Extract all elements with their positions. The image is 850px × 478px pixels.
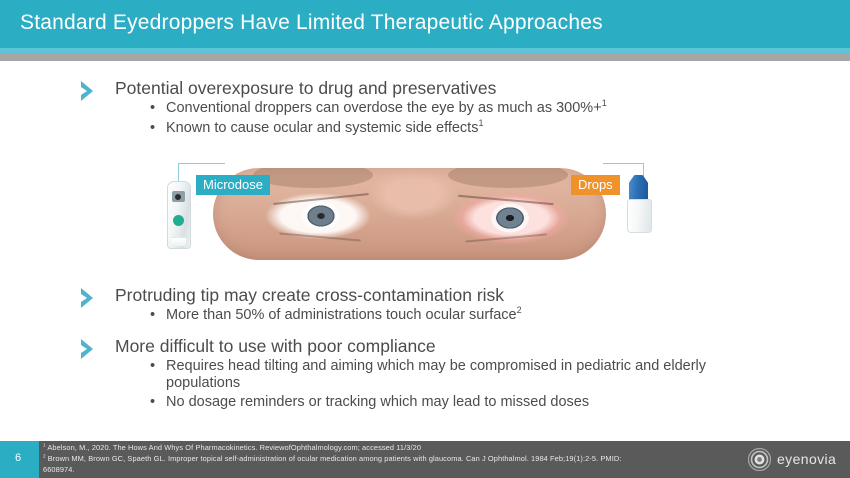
sub-bullet-text: No dosage reminders or tracking which ma… — [166, 394, 589, 411]
bullet-heading-2: Protruding tip may create cross-contamin… — [115, 285, 504, 306]
bullet-heading-3: More difficult to use with poor complian… — [115, 336, 436, 357]
page-title: Standard Eyedroppers Have Limited Therap… — [20, 11, 603, 35]
label-drops: Drops — [571, 175, 620, 195]
citation-2-text: Brown MM, Brown GC, Spaeth GL. Improper … — [43, 454, 621, 474]
sub-bullet-text: Requires head tilting and aiming which m… — [166, 358, 760, 392]
sub-bullet-1-2: • Known to cause ocular and systemic sid… — [150, 120, 483, 137]
bullet-dot-icon: • — [150, 394, 155, 411]
brand-logo: eyenovia — [748, 448, 844, 472]
chevron-bullet-icon-2 — [78, 286, 100, 310]
bullet-dot-icon: • — [150, 100, 155, 117]
footnote-ref: 1 — [602, 98, 607, 108]
page-number: 6 — [0, 452, 36, 464]
sub-bullet-3-2: • No dosage reminders or tracking which … — [150, 394, 589, 411]
microdose-device-illustration — [167, 181, 191, 249]
bullet-dot-icon: • — [150, 307, 155, 324]
device-window — [172, 191, 185, 202]
citation-1: 1 Abelson, M., 2020. The Hows And Whys O… — [43, 443, 421, 454]
sub-bullet-2-1: • More than 50% of administrations touch… — [150, 307, 522, 324]
footer-accent-bar — [36, 441, 39, 478]
bullet-dot-icon: • — [150, 358, 155, 375]
footnote-ref: 1 — [478, 118, 483, 128]
sub-bullet-3-1: • Requires head tilting and aiming which… — [150, 358, 760, 392]
device-base — [171, 237, 186, 246]
eyes-photograph — [213, 168, 606, 260]
dropper-bottle-body — [627, 199, 652, 233]
sub-bullet-text: Conventional droppers can overdose the e… — [166, 100, 602, 116]
sub-bullet-text: More than 50% of administrations touch o… — [166, 307, 517, 323]
eyenovia-mark-icon — [748, 448, 771, 471]
bullet-dot-icon: • — [150, 120, 155, 137]
footnote-ref: 2 — [517, 305, 522, 315]
bullet-heading-1: Potential overexposure to drug and prese… — [115, 78, 496, 99]
dropper-bottle-cap — [629, 175, 648, 201]
slide-canvas: Standard Eyedroppers Have Limited Therap… — [0, 0, 850, 478]
connector-line-drops — [603, 163, 644, 182]
device-actuator-button — [173, 215, 184, 226]
citation-1-text: Abelson, M., 2020. The Hows And Whys Of … — [46, 443, 421, 452]
header-gray-band — [0, 53, 850, 61]
chevron-bullet-icon-1 — [78, 79, 100, 103]
label-microdose: Microdose — [196, 175, 270, 195]
chevron-bullet-icon-3 — [78, 337, 100, 361]
brand-name: eyenovia — [777, 451, 836, 467]
connector-line-microdose — [178, 163, 225, 182]
sub-bullet-text: Known to cause ocular and systemic side … — [166, 120, 478, 136]
citation-2: 2 Brown MM, Brown GC, Spaeth GL. Imprope… — [43, 454, 643, 475]
sub-bullet-1-1: • Conventional droppers can overdose the… — [150, 100, 607, 117]
device-lens-icon — [175, 194, 181, 200]
